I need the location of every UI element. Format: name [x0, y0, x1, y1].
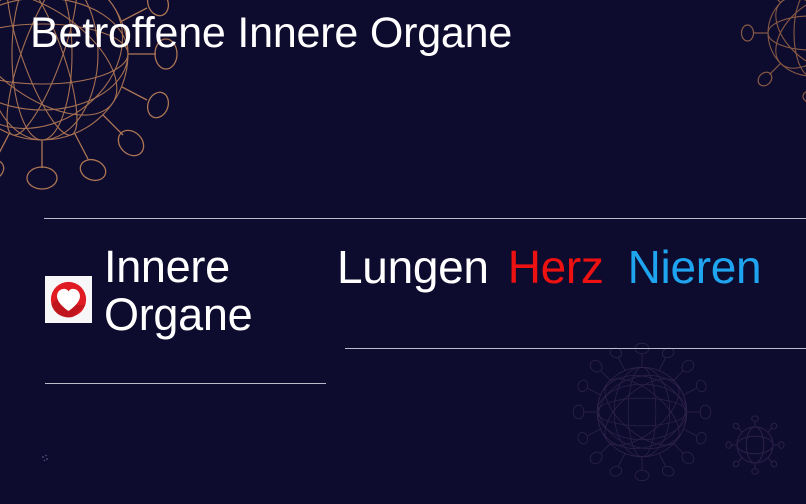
heart-icon-badge — [45, 276, 92, 323]
organ-item-herz: Herz — [508, 243, 604, 293]
category-label-line2: Organe — [104, 291, 334, 339]
divider-left — [45, 383, 326, 384]
virus-wireframe-top-right-icon — [736, 0, 806, 108]
divider-top — [44, 218, 806, 219]
organ-list: Lungen Herz Nieren — [337, 243, 761, 293]
slide-canvas: Betroffene Innere Organe Innere Organe L… — [0, 0, 806, 504]
heart-icon — [48, 279, 89, 320]
category-label-line1: Innere — [104, 241, 230, 292]
organ-item-nieren: Nieren — [628, 243, 762, 293]
page-title: Betroffene Innere Organe — [30, 9, 512, 58]
organ-item-lungen: Lungen — [337, 243, 489, 293]
category-label: Innere Organe — [104, 243, 334, 339]
footer: IGMJC www.moamedessa.com - ibnessa@yahoo… — [0, 452, 806, 504]
divider-right — [345, 348, 806, 349]
